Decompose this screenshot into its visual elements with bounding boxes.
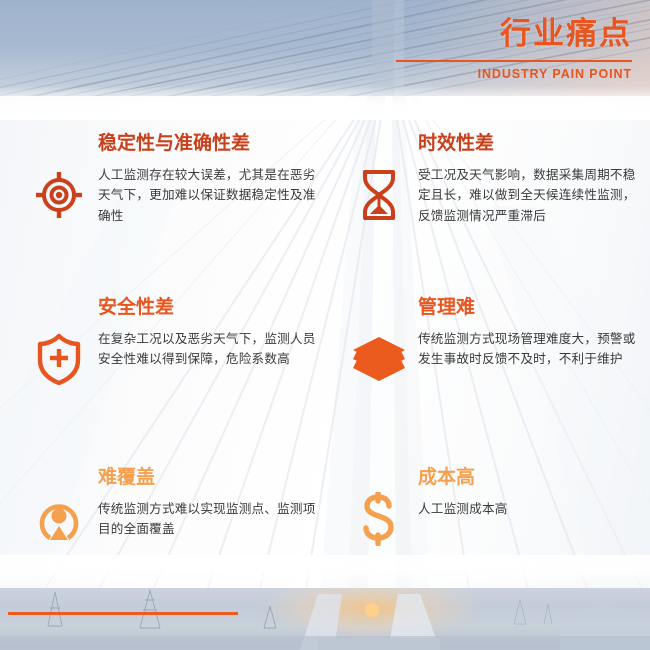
pain-point-body-0: 人工监测存在较大误差，尤其是在恶劣天气下，更加难以保证数据稳定性及准确性 — [98, 165, 328, 226]
pain-point-body-4: 传统监测方式难以实现监测点、监测项目的全面覆盖 — [98, 499, 328, 540]
pain-point-body-3: 传统监测方式现场管理难度大，预警或发生事故时反馈不及时，不利于维护 — [418, 329, 640, 370]
dollar-icon — [348, 484, 410, 554]
pain-point-body-5: 人工监测成本高 — [418, 499, 640, 519]
bottom-accent-rule — [8, 612, 238, 615]
pain-point-text-4: 难覆盖 传统监测方式难以实现监测点、监测项目的全面覆盖 — [90, 466, 328, 540]
pain-point-card-3: 管理难 传统监测方式现场管理难度大，预警或发生事故时反馈不及时，不利于维护 — [348, 296, 640, 394]
pain-point-text-5: 成本高 人工监测成本高 — [410, 466, 640, 519]
pain-point-title-2: 安全性差 — [98, 296, 328, 320]
shield-plus-icon — [28, 324, 90, 394]
pain-point-card-5: 成本高 人工监测成本高 — [348, 466, 640, 554]
page-header: 行业痛点 INDUSTRY PAIN POINT — [396, 16, 632, 81]
target-icon — [28, 160, 90, 230]
pain-point-card-0: 稳定性与准确性差 人工监测存在较大误差，尤其是在恶劣天气下，更加难以保证数据稳定… — [28, 132, 328, 230]
hourglass-icon — [348, 160, 410, 230]
pain-point-title-3: 管理难 — [418, 296, 640, 320]
pain-point-title-0: 稳定性与准确性差 — [98, 132, 328, 156]
coverage-icon — [28, 484, 90, 554]
bridge-sunset-scene-icon — [0, 588, 650, 650]
header-divider — [396, 60, 632, 62]
background-bottom-sunset — [0, 588, 650, 650]
pain-point-text-2: 安全性差 在复杂工况以及恶劣天气下，监测人员安全性难以得到保障，危险系数高 — [90, 296, 328, 370]
pain-point-body-2: 在复杂工况以及恶劣天气下，监测人员安全性难以得到保障，危险系数高 — [98, 329, 328, 370]
background-fade-top — [0, 86, 650, 120]
pain-point-text-0: 稳定性与准确性差 人工监测存在较大误差，尤其是在恶劣天气下，更加难以保证数据稳定… — [90, 132, 328, 226]
pain-point-title-4: 难覆盖 — [98, 466, 328, 490]
pain-point-title-5: 成本高 — [418, 466, 640, 490]
pain-point-card-1: 时效性差 受工况及天气影响，数据采集周期不稳定且长，难以做到全天候连续性监测，反… — [348, 132, 640, 230]
page-title: 行业痛点 — [396, 16, 632, 52]
pain-point-card-2: 安全性差 在复杂工况以及恶劣天气下，监测人员安全性难以得到保障，危险系数高 — [28, 296, 328, 394]
infographic-page: 行业痛点 INDUSTRY PAIN POINT — [0, 0, 650, 650]
pain-point-card-4: 难覆盖 传统监测方式难以实现监测点、监测项目的全面覆盖 — [28, 466, 328, 554]
pain-point-text-3: 管理难 传统监测方式现场管理难度大，预警或发生事故时反馈不及时，不利于维护 — [410, 296, 640, 370]
pain-point-text-1: 时效性差 受工况及天气影响，数据采集周期不稳定且长，难以做到全天候连续性监测，反… — [410, 132, 640, 226]
layers-icon — [348, 324, 410, 394]
pain-point-body-1: 受工况及天气影响，数据采集周期不稳定且长，难以做到全天候连续性监测，反馈监测情况… — [418, 165, 640, 226]
pain-point-grid: 稳定性与准确性差 人工监测存在较大误差，尤其是在恶劣天气下，更加难以保证数据稳定… — [0, 118, 650, 588]
page-subtitle: INDUSTRY PAIN POINT — [396, 67, 632, 81]
pain-point-title-1: 时效性差 — [418, 132, 640, 156]
